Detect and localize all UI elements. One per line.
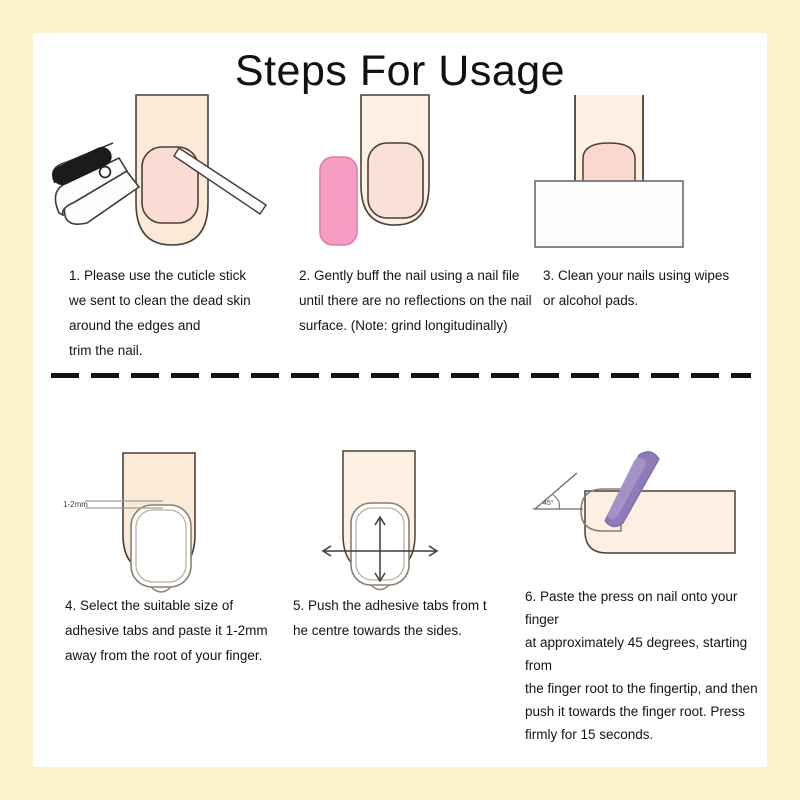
step-4: 1-2mm 4. Select the suitable size of adh…: [41, 443, 289, 743]
wipe-pad-icon: [535, 181, 683, 247]
step-2: 2. Gently buff the nail using a nail fil…: [283, 95, 531, 360]
step-2-illustration: [283, 95, 531, 255]
steps-row-top: 1. Please use the cuticle stick we sent …: [33, 95, 767, 360]
section-divider: [51, 373, 751, 378]
step-6-caption: 6. Paste the press on nail onto your fin…: [525, 585, 767, 746]
step-6-illustration: 45°: [525, 443, 767, 593]
step-1-caption: 1. Please use the cuticle stick we sent …: [69, 263, 289, 363]
instruction-card: Steps For Usage: [33, 33, 767, 767]
step-4-caption: 4. Select the suitable size of adhesive …: [65, 593, 289, 668]
steps-row-bottom: 1-2mm 4. Select the suitable size of adh…: [33, 443, 767, 743]
step-3: 3. Clean your nails using wipes or alcoh…: [525, 95, 767, 360]
page-title: Steps For Usage: [33, 47, 767, 96]
step-2-caption: 2. Gently buff the nail using a nail fil…: [299, 263, 547, 338]
nail-file-icon: [320, 157, 357, 245]
adhesive-tab-inner: [136, 510, 186, 582]
step-3-caption: 3. Clean your nails using wipes or alcoh…: [543, 263, 769, 313]
nail-shape: [368, 143, 423, 218]
step-4-illustration: 1-2mm: [41, 443, 289, 593]
step-5-caption: 5. Push the adhesive tabs from t he cent…: [293, 593, 533, 643]
step-5: 5. Push the adhesive tabs from t he cent…: [283, 443, 531, 743]
angle-label: 45°: [543, 499, 554, 507]
step-1-illustration: [41, 95, 289, 255]
step-1: 1. Please use the cuticle stick we sent …: [41, 95, 289, 360]
angle-indicator-icon: [533, 473, 583, 509]
step-6: 45° 6. Paste the press on nail onto your…: [525, 443, 767, 743]
step-5-illustration: [283, 443, 531, 593]
nail-clipper-icon: [50, 143, 139, 224]
step-3-illustration: [525, 95, 767, 255]
measurement-label: 1-2mm: [63, 500, 88, 509]
